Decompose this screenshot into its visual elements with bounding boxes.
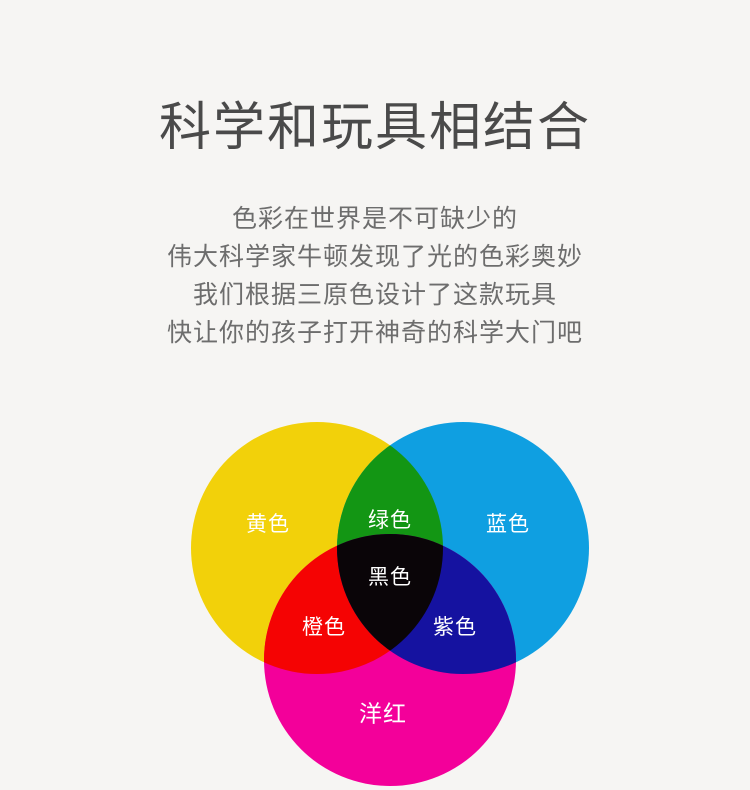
venn-diagram: 黄色 蓝色 洋红 绿色 橙色 紫色 黑色 (180, 418, 600, 790)
venn-label-purple: 紫色 (433, 615, 477, 639)
venn-label-green: 绿色 (368, 508, 412, 532)
venn-label-yellow: 黄色 (246, 512, 290, 536)
venn-label-blue: 蓝色 (486, 512, 530, 536)
heading-block: 科学和玩具相结合 (0, 96, 750, 160)
subtitle-line-1: 色彩在世界是不可缺少的 (0, 200, 750, 238)
subtitle-line-4: 快让你的孩子打开神奇的科学大门吧 (0, 314, 750, 352)
subtitle-block: 色彩在世界是不可缺少的 伟大科学家牛顿发现了光的色彩奥妙 我们根据三原色设计了这… (0, 200, 750, 352)
subtitle-line-3: 我们根据三原色设计了这款玩具 (0, 276, 750, 314)
page-title: 科学和玩具相结合 (0, 96, 750, 160)
page-root: 科学和玩具相结合 色彩在世界是不可缺少的 伟大科学家牛顿发现了光的色彩奥妙 我们… (0, 0, 750, 790)
subtitle-line-2: 伟大科学家牛顿发现了光的色彩奥妙 (0, 238, 750, 276)
venn-label-black: 黑色 (368, 565, 412, 589)
venn-label-magenta: 洋红 (359, 702, 407, 728)
venn-label-orange: 橙色 (302, 615, 346, 639)
venn-diagram-svg: 黄色 蓝色 洋红 绿色 橙色 紫色 黑色 (180, 418, 600, 790)
